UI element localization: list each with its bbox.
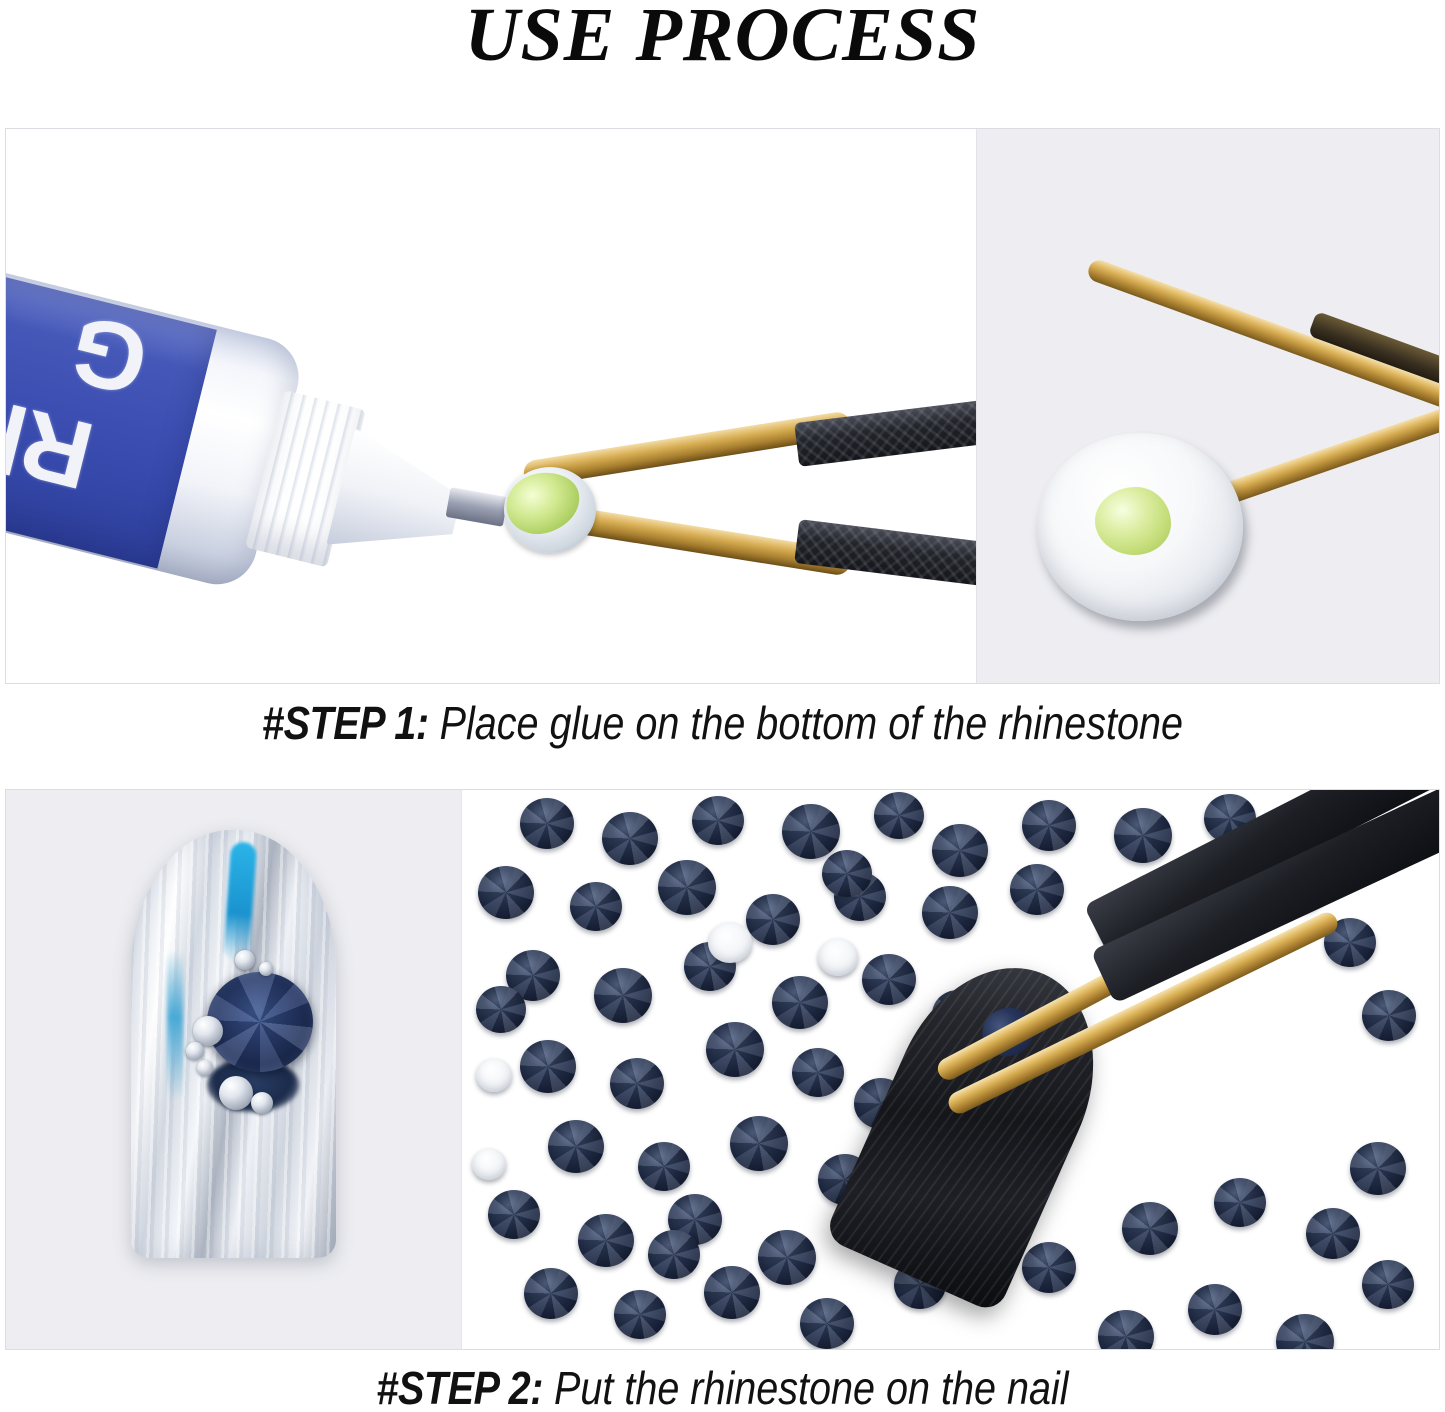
rhinestone <box>746 894 800 945</box>
rhinestone <box>792 1048 844 1097</box>
rhinestone <box>1010 864 1064 915</box>
rhinestone-flat-back-up <box>472 1148 506 1180</box>
rhinestone-flat-back-up <box>818 938 858 976</box>
rhinestone <box>1188 1284 1242 1335</box>
rhinestone <box>638 1142 690 1191</box>
blue-accent-streak-secondary <box>167 950 183 1100</box>
photo-rhinestone-closeup <box>976 129 1439 683</box>
rhinestone <box>658 860 716 915</box>
rhinestone <box>1122 1202 1178 1255</box>
silver-bead <box>219 1076 253 1110</box>
tweezer-handle-upper <box>794 395 976 467</box>
rhinestone-flat-back-up <box>708 922 752 963</box>
rhinestone <box>476 986 526 1033</box>
step-2-photo-row <box>5 789 1440 1350</box>
rhinestone <box>758 1230 816 1285</box>
rhinestone <box>730 1116 788 1171</box>
step-2-text: Put the rhinestone on the nail <box>543 1362 1069 1412</box>
rhinestone <box>520 1040 576 1093</box>
rhinestone <box>614 1290 666 1339</box>
rhinestone-flat-back-up <box>476 1058 512 1092</box>
rhinestone <box>1114 808 1172 863</box>
infographic-page: USE PROCESS G Rh <box>0 0 1445 1412</box>
rhinestone <box>1022 1242 1076 1293</box>
photo-rhinestone-scatter <box>461 790 1439 1349</box>
silver-bead <box>251 1092 273 1114</box>
rhinestone <box>692 796 744 845</box>
press-on-nail-silver <box>131 830 336 1258</box>
rhinestone <box>874 792 924 839</box>
glue-bottle: G Rh <box>6 268 472 641</box>
glue-blob-on-rhinestone <box>1095 487 1171 555</box>
tweezer-grip-texture-lower <box>794 519 976 591</box>
rhinestone <box>524 1268 578 1319</box>
step-1-caption: #STEP 1: Place glue on the bottom of the… <box>101 696 1344 750</box>
step-1-label: #STEP 1: <box>262 697 429 749</box>
rhinestone <box>1098 1310 1154 1349</box>
step-1-text: Place glue on the bottom of the rhinesto… <box>429 697 1183 749</box>
rhinestone <box>478 866 534 919</box>
rhinestone <box>1350 1142 1406 1195</box>
rhinestone <box>548 1120 604 1173</box>
rhinestone <box>610 1058 664 1109</box>
rhinestone <box>594 968 652 1023</box>
step-1-image-block: G Rh <box>5 128 1440 684</box>
rhinestone <box>578 1214 634 1267</box>
photo-glue-application: G Rh <box>6 129 976 683</box>
rhinestone <box>922 886 978 939</box>
rhinestone <box>704 1266 760 1319</box>
rhinestone <box>1022 800 1076 851</box>
bottle-label-text-line-1: G <box>63 299 157 410</box>
rhinestone <box>1362 1260 1414 1309</box>
tweezer-handle-lower <box>794 519 976 591</box>
rhinestone <box>1214 1178 1266 1227</box>
step-2-caption: #STEP 2: Put the rhinestone on the nail <box>101 1361 1344 1412</box>
rhinestone <box>822 850 872 897</box>
rhinestone <box>520 798 574 849</box>
rhinestone <box>570 882 622 931</box>
rhinestone <box>800 1298 854 1349</box>
rhinestone <box>862 954 916 1005</box>
rhinestone <box>602 812 658 865</box>
step-2-image-block <box>5 789 1440 1350</box>
tweezer-grip-texture-upper <box>794 395 976 467</box>
step-1-photo-row: G Rh <box>5 128 1440 684</box>
step-2-label: #STEP 2: <box>376 1362 543 1412</box>
rhinestone <box>1306 1208 1360 1259</box>
page-title: USE PROCESS <box>0 0 1445 78</box>
silver-bead <box>235 950 255 970</box>
rhinestone <box>932 824 988 877</box>
silver-bead <box>197 1060 213 1076</box>
rhinestone <box>706 1022 764 1077</box>
photo-finished-nail <box>6 790 461 1349</box>
rhinestone <box>648 1230 700 1279</box>
large-navy-rhinestone <box>207 972 313 1072</box>
rhinestone <box>782 804 840 859</box>
rhinestone <box>1362 990 1416 1041</box>
silver-bead <box>259 962 273 976</box>
silver-bead <box>186 1042 204 1060</box>
rhinestone <box>1276 1314 1334 1349</box>
rhinestone <box>772 976 828 1029</box>
rhinestone <box>488 1190 540 1239</box>
